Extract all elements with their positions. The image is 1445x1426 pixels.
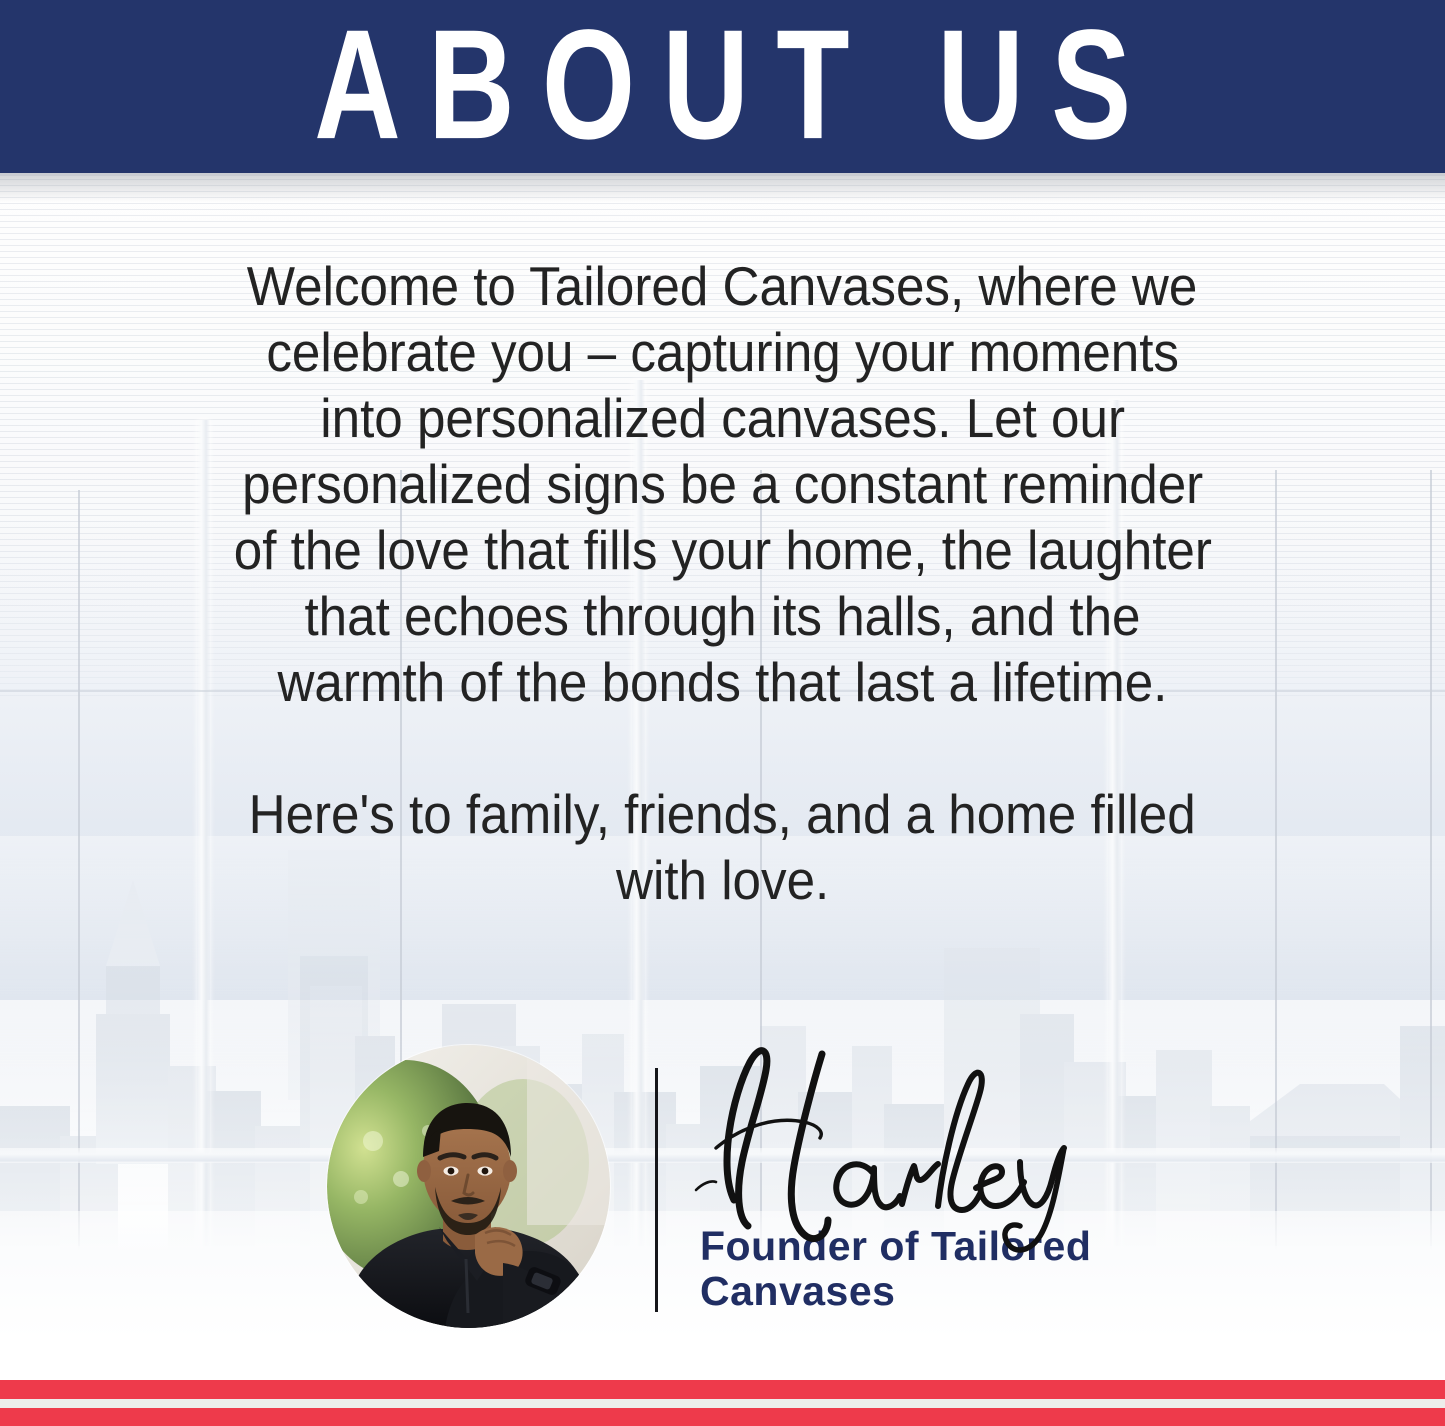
paragraph-spacer <box>188 715 1258 781</box>
about-us-poster: ABOUT US Welcome to Tailored Canvases, w… <box>0 0 1445 1426</box>
avatar <box>327 1045 610 1328</box>
copy-line-text: Here's to family, friends, and a home fi… <box>249 781 1196 847</box>
copy-line-text: celebrate you – capturing your moments <box>266 319 1179 385</box>
copy-line: of the love that fills your home, the la… <box>188 517 1258 583</box>
copy-line-text: Welcome to Tailored Canvases, where we <box>247 253 1198 319</box>
copy-line-text: with love. <box>616 847 829 913</box>
copy-line-text: into personalized canvases. Let our <box>320 385 1125 451</box>
page-title: ABOUT US <box>287 6 1158 162</box>
copy-line-text: personalized signs be a constant reminde… <box>242 451 1203 517</box>
copy-line: that echoes through its halls, and the <box>188 583 1258 649</box>
footer-bar-gap <box>0 1399 1445 1408</box>
copy-line-text: that echoes through its halls, and the <box>304 583 1140 649</box>
copy-line: Welcome to Tailored Canvases, where we <box>188 253 1258 319</box>
copy-line: into personalized canvases. Let our <box>188 385 1258 451</box>
copy-line-text: of the love that fills your home, the la… <box>233 517 1211 583</box>
copy-line: Here's to family, friends, and a home fi… <box>188 781 1258 847</box>
window-mullion <box>1275 470 1277 1261</box>
footer-bar-bottom <box>0 1408 1445 1426</box>
window-mullion <box>78 490 80 1261</box>
copy-line: personalized signs be a constant reminde… <box>188 451 1258 517</box>
signature-divider <box>655 1068 658 1312</box>
header-banner: ABOUT US <box>0 0 1445 173</box>
founder-title-line-2: Canvases <box>700 1269 1170 1314</box>
window-mullion <box>1430 470 1432 1261</box>
about-us-body-copy: Welcome to Tailored Canvases, where we c… <box>188 253 1258 913</box>
copy-line-text: warmth of the bonds that last a lifetime… <box>278 649 1168 715</box>
copy-line: warmth of the bonds that last a lifetime… <box>188 649 1258 715</box>
header-dropshadow <box>0 176 1445 202</box>
copy-line: with love. <box>188 847 1258 913</box>
footer-bar-top <box>0 1380 1445 1399</box>
signature-harley <box>676 1040 1106 1255</box>
copy-line: celebrate you – capturing your moments <box>188 319 1258 385</box>
header-underline <box>0 173 1445 176</box>
